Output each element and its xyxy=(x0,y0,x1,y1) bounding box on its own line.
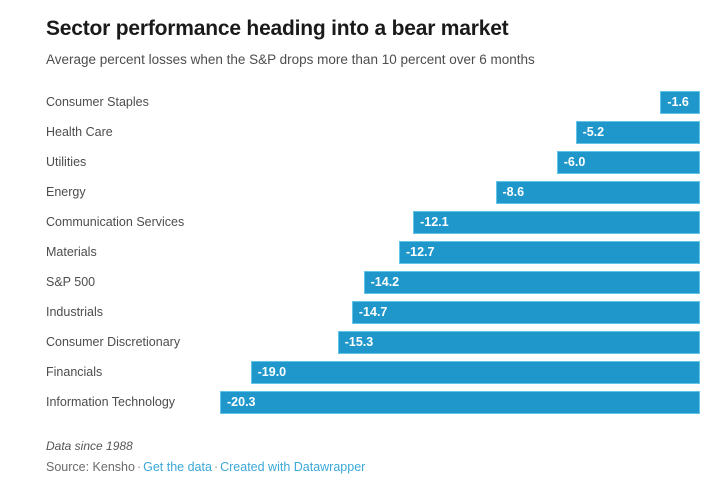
bar-category-label: Consumer Staples xyxy=(46,87,149,117)
bar-row: Materials-12.7 xyxy=(46,237,700,267)
bar-track: -14.2 xyxy=(222,267,700,297)
bar-value-label: -20.3 xyxy=(221,396,256,409)
bar-category-label: Health Care xyxy=(46,117,113,147)
source-label: Source: Kensho xyxy=(46,460,135,474)
bar-value-label: -5.2 xyxy=(577,126,605,139)
bar[interactable]: -20.3 xyxy=(220,391,700,414)
footer-separator-2: · xyxy=(212,460,220,474)
bar-value-label: -14.7 xyxy=(353,306,388,319)
footer-note: Data since 1988 xyxy=(46,438,700,455)
bar-track: -20.3 xyxy=(222,387,700,417)
bar-row: S&P 500-14.2 xyxy=(46,267,700,297)
bar-row: Consumer Discretionary-15.3 xyxy=(46,327,700,357)
bar-category-label: Utilities xyxy=(46,147,86,177)
bar-value-label: -1.6 xyxy=(661,96,689,109)
get-the-data-link[interactable]: Get the data xyxy=(143,460,212,474)
bar-row: Information Technology-20.3 xyxy=(46,387,700,417)
bar[interactable]: -14.2 xyxy=(364,271,700,294)
bar-value-label: -12.1 xyxy=(414,216,449,229)
bar-track: -19.0 xyxy=(222,357,700,387)
chart-subtitle: Average percent losses when the S&P drop… xyxy=(46,42,700,69)
bar-category-label: Industrials xyxy=(46,297,103,327)
bar-track: -1.6 xyxy=(222,87,700,117)
created-with-datawrapper-link[interactable]: Created with Datawrapper xyxy=(220,460,365,474)
bar[interactable]: -12.1 xyxy=(413,211,700,234)
bar[interactable]: -1.6 xyxy=(660,91,700,114)
bar-row: Communication Services-12.1 xyxy=(46,207,700,237)
bar-value-label: -14.2 xyxy=(365,276,400,289)
bar-value-label: -8.6 xyxy=(497,186,525,199)
bar-track: -6.0 xyxy=(222,147,700,177)
bar-row: Energy-8.6 xyxy=(46,177,700,207)
footer-source: Source: Kensho·Get the data·Created with… xyxy=(46,455,700,476)
chart-footer: Data since 1988 Source: Kensho·Get the d… xyxy=(46,438,700,476)
bar-category-label: Information Technology xyxy=(46,387,175,417)
bar-track: -15.3 xyxy=(222,327,700,357)
bar-category-label: Communication Services xyxy=(46,207,184,237)
footer-separator-1: · xyxy=(135,460,143,474)
bar[interactable]: -19.0 xyxy=(251,361,700,384)
bar-row: Consumer Staples-1.6 xyxy=(46,87,700,117)
bar-value-label: -19.0 xyxy=(252,366,287,379)
bar-category-label: Materials xyxy=(46,237,97,267)
bar-track: -14.7 xyxy=(222,297,700,327)
bar-row: Utilities-6.0 xyxy=(46,147,700,177)
bar[interactable]: -12.7 xyxy=(399,241,700,264)
bar[interactable]: -8.6 xyxy=(496,181,701,204)
bar[interactable]: -6.0 xyxy=(557,151,700,174)
bar-track: -5.2 xyxy=(222,117,700,147)
bar-category-label: Energy xyxy=(46,177,86,207)
bar-track: -12.7 xyxy=(222,237,700,267)
bar[interactable]: -5.2 xyxy=(576,121,700,144)
bar-category-label: S&P 500 xyxy=(46,267,95,297)
plot-area: Consumer Staples-1.6Health Care-5.2Utili… xyxy=(46,87,700,400)
bar-track: -12.1 xyxy=(222,207,700,237)
bar-value-label: -15.3 xyxy=(339,336,374,349)
bar-value-label: -6.0 xyxy=(558,156,586,169)
bar-chart: Sector performance heading into a bear m… xyxy=(0,0,726,497)
bar-category-label: Consumer Discretionary xyxy=(46,327,180,357)
bar-row: Industrials-14.7 xyxy=(46,297,700,327)
chart-title: Sector performance heading into a bear m… xyxy=(46,0,700,42)
bar[interactable]: -14.7 xyxy=(352,301,700,324)
bar-category-label: Financials xyxy=(46,357,102,387)
bar[interactable]: -15.3 xyxy=(338,331,700,354)
bar-row: Health Care-5.2 xyxy=(46,117,700,147)
bar-row: Financials-19.0 xyxy=(46,357,700,387)
bar-track: -8.6 xyxy=(222,177,700,207)
bar-value-label: -12.7 xyxy=(400,246,435,259)
